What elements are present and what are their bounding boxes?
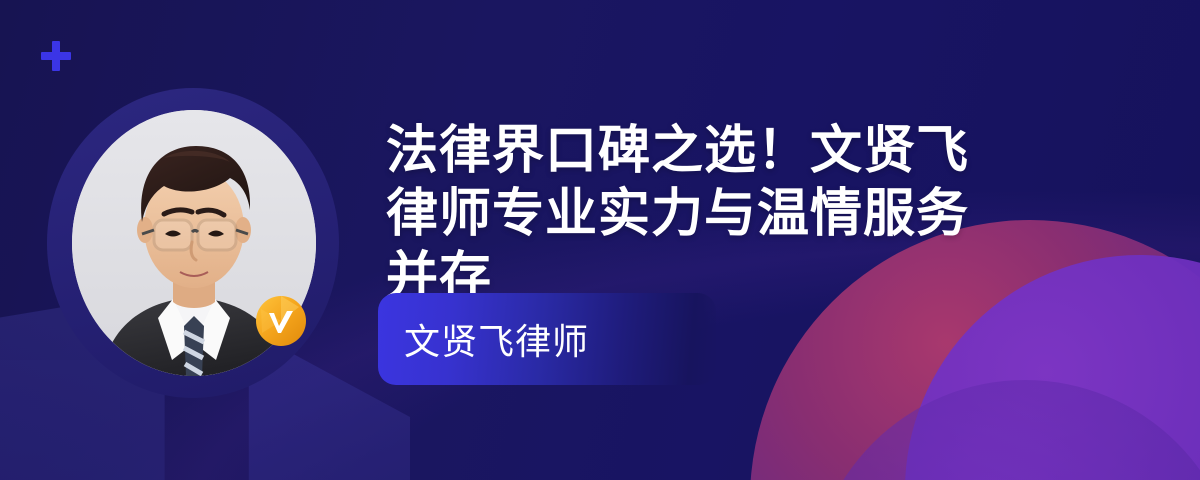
plus-icon [41, 41, 71, 71]
headline-line-1: 法律界口碑之选！文贤飞 [386, 120, 1086, 183]
promo-banner: 法律界口碑之选！文贤飞 律师专业实力与温情服务 并存 文贤飞律师 [0, 0, 1200, 480]
lawyer-cta-button[interactable]: 文贤飞律师 [378, 293, 716, 385]
headline-line-2: 律师专业实力与温情服务 [386, 183, 1086, 246]
page-title: 法律界口碑之选！文贤飞 律师专业实力与温情服务 并存 [386, 120, 1086, 309]
verified-badge-icon [255, 295, 307, 347]
avatar [47, 88, 339, 398]
